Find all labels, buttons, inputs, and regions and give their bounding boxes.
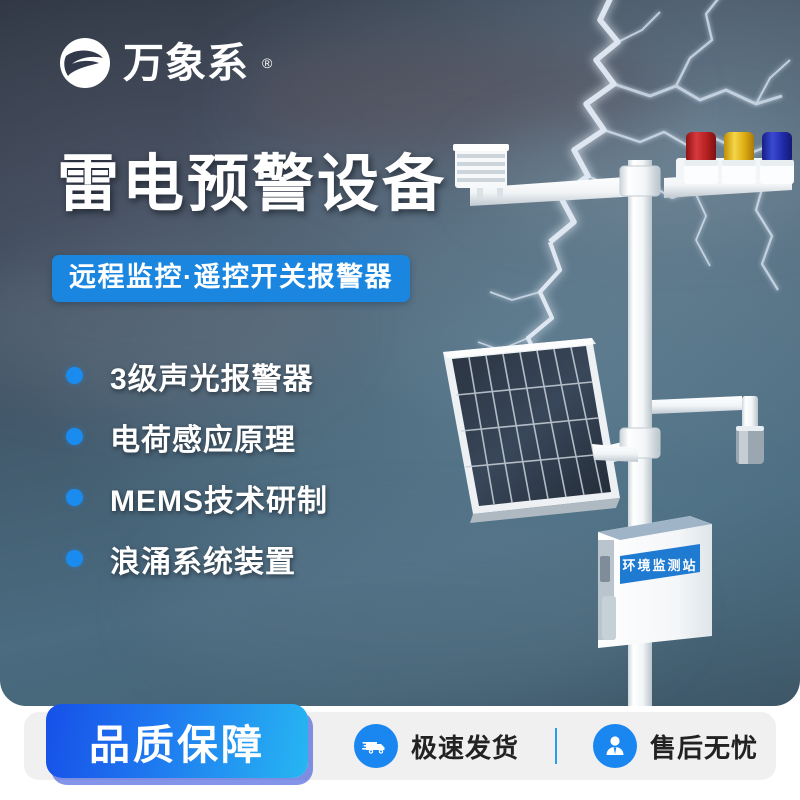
control-cabinet: 环境监测站 xyxy=(598,516,712,648)
quality-badge: 品质保障 xyxy=(46,704,308,778)
footer-items: 极速发货 售后无忧 xyxy=(354,712,758,780)
beacon-lights xyxy=(684,132,794,184)
radiation-shield-sensor xyxy=(453,144,509,199)
globe-swoosh-logo-icon xyxy=(58,36,112,90)
footer-bar: 品质保障 极速发货 xyxy=(24,712,776,780)
bullet-dot-icon xyxy=(66,367,83,384)
cabinet-label: 环境监测站 xyxy=(622,558,697,573)
feature-label: 浪涌系统装置 xyxy=(110,537,296,581)
footer-item-label: 售后无忧 xyxy=(650,728,758,765)
feature-label: 电荷感应原理 xyxy=(110,415,296,459)
footer-item-aftersales: 售后无忧 xyxy=(593,724,758,768)
list-item: 3级声光报警器 xyxy=(66,345,328,406)
bullet-dot-icon xyxy=(66,428,83,445)
brand-logo: 万象系 ® xyxy=(58,36,272,90)
footer-item-shipping: 极速发货 xyxy=(354,724,519,768)
page-title: 雷电预警设备 xyxy=(57,152,447,217)
solar-panel xyxy=(443,338,638,523)
registered-mark-icon: ® xyxy=(262,55,272,71)
bullet-dot-icon xyxy=(66,550,83,567)
footer-divider xyxy=(555,728,557,764)
feature-label: MEMS技术研制 xyxy=(110,476,328,520)
subtitle-badge: 远程监控·遥控开关报警器 xyxy=(52,255,410,302)
hero-banner: 环境监测站 万象系 ® 雷电预警设备 远程监控·遥控开关报警器 3级声光报警器 … xyxy=(0,0,800,706)
delivery-truck-icon xyxy=(354,724,398,768)
feature-label: 3级声光报警器 xyxy=(110,354,314,398)
list-item: 浪涌系统装置 xyxy=(66,528,328,589)
customer-service-person-icon xyxy=(593,724,637,768)
list-item: 电荷感应原理 xyxy=(66,406,328,467)
list-item: MEMS技术研制 xyxy=(66,467,328,528)
bullet-dot-icon xyxy=(66,489,83,506)
feature-list: 3级声光报警器 电荷感应原理 MEMS技术研制 浪涌系统装置 xyxy=(66,345,328,589)
brand-name: 万象系 xyxy=(123,43,249,84)
footer-item-label: 极速发货 xyxy=(411,728,519,765)
camera-sensor xyxy=(652,396,764,464)
